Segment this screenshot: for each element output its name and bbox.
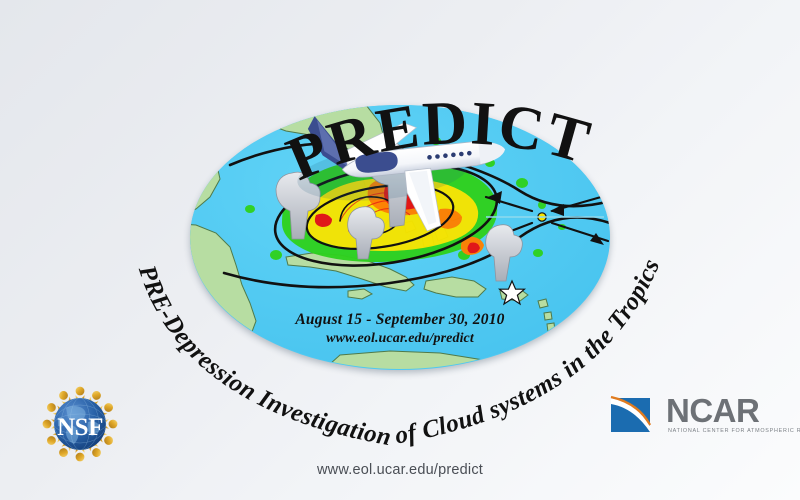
- subtitle-text: PRE-Depression Investigation of Cloud sy…: [133, 255, 666, 451]
- ncar-acronym: NCAR: [666, 394, 759, 428]
- campaign-url[interactable]: www.eol.ucar.edu/predict: [250, 330, 550, 348]
- footer-url[interactable]: www.eol.ucar.edu/predict: [0, 462, 800, 478]
- poster-canvas: PREDICT PRE-Depression Investigation of …: [0, 0, 800, 500]
- nsf-logo[interactable]: NSF: [38, 382, 122, 466]
- predict-logo: PREDICT PRE-Depression Investigation of …: [150, 95, 650, 395]
- ncar-logo[interactable]: NCAR NATIONAL CENTER FOR ATMOSPHERIC RES…: [608, 392, 778, 440]
- campaign-info-block: August 15 - September 30, 2010 www.eol.u…: [250, 310, 550, 348]
- nsf-acronym: NSF: [57, 414, 103, 441]
- ncar-logo-mark: [608, 392, 662, 436]
- ncar-tagline: NATIONAL CENTER FOR ATMOSPHERIC RESEARCH: [668, 428, 800, 434]
- campaign-dates: August 15 - September 30, 2010: [250, 310, 550, 330]
- nsf-logo-graphic: NSF: [38, 382, 122, 466]
- subtitle-value: PRE-Depression Investigation of Cloud sy…: [133, 255, 666, 451]
